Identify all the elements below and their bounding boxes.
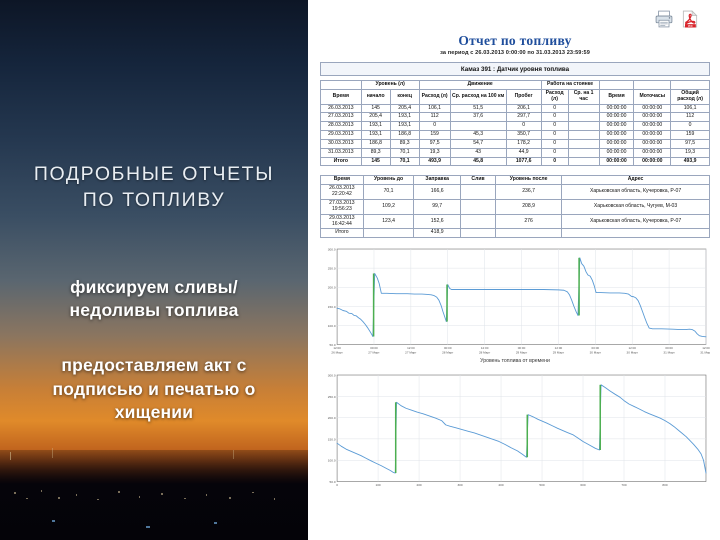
table-cell: 45,3: [450, 131, 506, 140]
svg-text:100: 100: [375, 483, 380, 487]
svg-text:29 Март: 29 Март: [553, 351, 565, 355]
movement-column-header-9: Моточасы: [634, 89, 671, 104]
table-cell: [568, 157, 599, 166]
promo-title: ПОДРОБНЫЕ ОТЧЕТЫ ПО ТОПЛИВУ: [34, 162, 274, 214]
table-cell: [568, 113, 599, 122]
svg-text:500: 500: [539, 483, 544, 487]
table-cell: 00:00:00: [634, 113, 671, 122]
svg-text:100.0: 100.0: [328, 458, 336, 462]
table-cell: 0: [541, 113, 568, 122]
table-cell: 109,2: [363, 199, 414, 214]
svg-text:100.0: 100.0: [328, 324, 336, 328]
movement-table: Уровень (л)ДвижениеРабота на стоянке Вре…: [320, 80, 710, 166]
table-cell: 00:00:00: [634, 139, 671, 148]
table-cell: 0: [541, 104, 568, 113]
report-period: за период с 26.03.2013 0:00:00 по 31.03.…: [320, 50, 710, 56]
table-cell: 00:00:00: [599, 139, 634, 148]
table-cell: 97,5: [671, 139, 710, 148]
table-cell: 89,3: [390, 139, 419, 148]
movement-group-header-2: Движение: [419, 81, 541, 90]
svg-text:28 Март: 28 Март: [479, 351, 491, 355]
movement-table-wrap: Уровень (л)ДвижениеРабота на стоянке Вре…: [320, 80, 710, 166]
fuel-level-time-chart-svg: 50.0100.0150.0200.0250.0300.012:0026 Мар…: [320, 246, 710, 359]
table-cell: [461, 229, 496, 238]
fuel-report-panel: PDF Отчет по топливу за период с 26.03.2…: [308, 0, 720, 540]
table-cell: 0: [541, 139, 568, 148]
table-cell: 152,6: [414, 214, 461, 229]
table-cell: 205,4: [390, 104, 419, 113]
table-row: 30.03.2013186,889,397,554,7178,2000:00:0…: [321, 139, 710, 148]
refuel-column-header-5: Адрес: [562, 176, 710, 185]
table-cell: Харьковская область, Кучеровка, Р-07: [562, 185, 710, 200]
promo-benefit-2: предоставляем акт с подписью и печатью о…: [53, 354, 256, 424]
avito-watermark: Avito: [596, 500, 712, 534]
table-row: 27.03.201319:56:23109,299,7208,9Харьковс…: [321, 199, 710, 214]
table-row: 27.03.2013205,4193,111237,6297,7000:00:0…: [321, 113, 710, 122]
svg-text:12:00: 12:00: [407, 346, 415, 350]
table-cell: 70,1: [363, 185, 414, 200]
table-cell: Харьковская область, Чугуев, М-03: [562, 199, 710, 214]
table-cell: 19,3: [419, 148, 450, 157]
svg-text:31 Март: 31 Март: [663, 351, 675, 355]
promo-title-line-1: ПОДРОБНЫЕ ОТЧЕТЫ: [34, 162, 274, 188]
movement-column-header-4: Ср. расход на 100 км: [450, 89, 506, 104]
svg-text:12:00: 12:00: [333, 346, 341, 350]
svg-text:250.0: 250.0: [328, 267, 336, 271]
table-cell: Харьковская область, Кучеровка, Р-07: [562, 214, 710, 229]
svg-text:26 Март: 26 Март: [331, 351, 343, 355]
device-header-bar: Камаз 391 : Датчик уровня топлива: [320, 62, 710, 76]
table-cell: [568, 139, 599, 148]
table-row: 29.03.201316:42:44123,4152,6276Харьковск…: [321, 214, 710, 229]
table-cell: 97,5: [419, 139, 450, 148]
table-cell: 186,8: [390, 131, 419, 140]
table-cell: [450, 122, 506, 131]
table-cell: [568, 131, 599, 140]
table-cell: 0: [541, 122, 568, 131]
table-cell: 193,1: [361, 131, 390, 140]
refuel-column-header-0: Время: [321, 176, 364, 185]
table-row: 29.03.2013193,1186,815945,3350,7000:00:0…: [321, 131, 710, 140]
table-cell: [363, 229, 414, 238]
table-cell: 29.03.201316:42:44: [321, 214, 364, 229]
svg-text:50.0: 50.0: [330, 480, 336, 484]
table-cell: 27.03.2013: [321, 113, 362, 122]
table-cell: 145: [361, 104, 390, 113]
svg-text:12:00: 12:00: [555, 346, 563, 350]
fuel-level-mileage-chart: 50.0100.0150.0200.0250.0300.001002003004…: [320, 372, 710, 491]
table-cell: 30.03.2013: [321, 139, 362, 148]
table-cell: 99,7: [414, 199, 461, 214]
fuel-level-mileage-chart-svg: 50.0100.0150.0200.0250.0300.001002003004…: [320, 372, 710, 491]
svg-text:00:00: 00:00: [665, 346, 673, 350]
pdf-icon-label: PDF: [688, 24, 694, 28]
svg-text:00:00: 00:00: [592, 346, 600, 350]
table-cell: 0: [671, 122, 710, 131]
table-cell: 89,3: [361, 148, 390, 157]
movement-column-header-3: Расход (л): [419, 89, 450, 104]
svg-text:27 Март: 27 Март: [405, 351, 417, 355]
movement-group-header-6: [671, 81, 710, 90]
svg-text:150.0: 150.0: [328, 437, 336, 441]
movement-table-group-header-row: Уровень (л)ДвижениеРабота на стоянке: [321, 81, 710, 90]
table-cell: 00:00:00: [634, 131, 671, 140]
table-cell: 29.03.2013: [321, 131, 362, 140]
svg-text:200.0: 200.0: [328, 286, 336, 290]
table-cell: [461, 185, 496, 200]
movement-group-header-3: Работа на стоянке: [541, 81, 599, 90]
table-cell: 00:00:00: [599, 104, 634, 113]
table-cell: 178,2: [506, 139, 541, 148]
table-cell: 0: [506, 122, 541, 131]
svg-text:30 Март: 30 Март: [627, 351, 639, 355]
movement-group-header-1: Уровень (л): [361, 81, 419, 90]
table-row: 26.03.2013145205,4106,151,5206,1000:00:0…: [321, 104, 710, 113]
table-cell: [568, 122, 599, 131]
table-cell: 112: [419, 113, 450, 122]
table-cell: Итого: [321, 229, 364, 238]
refuel-table-header-row: ВремяУровень доЗаправкаСливУровень после…: [321, 176, 710, 185]
promo-benefit-2-line-1: предоставляем акт с: [53, 354, 256, 377]
refuel-column-header-1: Уровень до: [363, 176, 414, 185]
table-row: 28.03.2013193,1193,100000:00:0000:00:000: [321, 122, 710, 131]
svg-text:00:00: 00:00: [444, 346, 452, 350]
movement-column-header-1: начало: [361, 89, 390, 104]
svg-text:00:00: 00:00: [370, 346, 378, 350]
table-cell: 418,9: [414, 229, 461, 238]
table-cell: [461, 214, 496, 229]
refuel-column-header-2: Заправка: [414, 176, 461, 185]
svg-text:12:00: 12:00: [702, 346, 710, 350]
promo-panel: ПОДРОБНЫЕ ОТЧЕТЫ ПО ТОПЛИВУ фиксируем сл…: [0, 0, 308, 540]
svg-text:300.0: 300.0: [328, 248, 336, 252]
table-cell: 26.03.2013: [321, 104, 362, 113]
svg-text:30 Март: 30 Март: [590, 351, 602, 355]
promo-benefit-1-line-1: фиксируем сливы/: [69, 276, 238, 299]
refuel-table: ВремяУровень доЗаправкаСливУровень после…: [320, 175, 710, 238]
table-cell: Итого: [321, 157, 362, 166]
table-cell: 106,1: [419, 104, 450, 113]
movement-group-header-4: [599, 81, 634, 90]
movement-column-header-6: Расход (л): [541, 89, 568, 104]
table-cell: 0: [541, 157, 568, 166]
table-cell: 27.03.201319:56:23: [321, 199, 364, 214]
refuel-column-header-4: Уровень после: [496, 176, 562, 185]
svg-text:400: 400: [498, 483, 503, 487]
table-cell: 00:00:00: [599, 122, 634, 131]
refuel-total-row: Итого418,9: [321, 229, 710, 238]
table-cell: 206,1: [506, 104, 541, 113]
table-cell: 00:00:00: [599, 113, 634, 122]
table-cell: 70,1: [390, 157, 419, 166]
promo-benefit-2-line-2: подписью и печатью о: [53, 378, 256, 401]
table-cell: 31.03.2013: [321, 148, 362, 157]
table-cell: 00:00:00: [634, 148, 671, 157]
movement-column-header-2: конец: [390, 89, 419, 104]
promo-benefit-1: фиксируем сливы/ недоливы топлива: [69, 276, 238, 323]
table-cell: 00:00:00: [634, 104, 671, 113]
table-cell: 106,1: [671, 104, 710, 113]
refuel-table-body: 26.03.201322:20:4270,1166,6236,7Харьковс…: [321, 185, 710, 238]
table-cell: [568, 104, 599, 113]
table-row: 31.03.201389,370,119,34344,9000:00:0000:…: [321, 148, 710, 157]
svg-text:12:00: 12:00: [481, 346, 489, 350]
svg-text:800: 800: [662, 483, 667, 487]
movement-column-header-8: Время: [599, 89, 634, 104]
table-cell: 37,6: [450, 113, 506, 122]
pdf-export-icon[interactable]: PDF: [680, 9, 700, 29]
table-cell: 236,7: [496, 185, 562, 200]
table-cell: [461, 199, 496, 214]
table-cell: 43: [450, 148, 506, 157]
table-cell: 159: [419, 131, 450, 140]
svg-text:29 Март: 29 Март: [516, 351, 528, 355]
movement-total-row: Итого14570,1493,945,81077,6000:00:0000:0…: [321, 157, 710, 166]
svg-text:200: 200: [416, 483, 421, 487]
table-cell: [562, 229, 710, 238]
table-cell: 276: [496, 214, 562, 229]
table-cell: 44,9: [506, 148, 541, 157]
avito-watermark-text: Avito: [636, 510, 687, 533]
fuel-level-time-chart-caption: Уровень топлива от времени: [320, 358, 710, 364]
table-cell: 350,7: [506, 131, 541, 140]
table-cell: 54,7: [450, 139, 506, 148]
report-title: Отчет по топливу: [320, 33, 710, 49]
table-cell: 193,1: [390, 122, 419, 131]
movement-column-header-5: Пробег: [506, 89, 541, 104]
table-cell: 26.03.201322:20:42: [321, 185, 364, 200]
movement-group-header-0: [321, 81, 362, 90]
svg-text:250.0: 250.0: [328, 395, 336, 399]
table-cell: 186,8: [361, 139, 390, 148]
table-cell: 112: [671, 113, 710, 122]
table-cell: 45,8: [450, 157, 506, 166]
svg-text:31 Март: 31 Март: [700, 351, 710, 355]
movement-column-header-0: Время: [321, 89, 362, 104]
table-cell: 70,1: [390, 148, 419, 157]
table-cell: 205,4: [361, 113, 390, 122]
table-cell: 297,7: [506, 113, 541, 122]
svg-text:12:00: 12:00: [628, 346, 636, 350]
table-cell: 208,9: [496, 199, 562, 214]
svg-text:300: 300: [457, 483, 462, 487]
svg-text:28 Март: 28 Март: [442, 351, 454, 355]
table-cell: 123,4: [363, 214, 414, 229]
movement-group-header-5: [634, 81, 671, 90]
table-cell: 1077,6: [506, 157, 541, 166]
table-cell: 0: [541, 148, 568, 157]
table-cell: 51,5: [450, 104, 506, 113]
svg-text:150.0: 150.0: [328, 305, 336, 309]
table-cell: 159: [671, 131, 710, 140]
table-row: 26.03.201322:20:4270,1166,6236,7Харьковс…: [321, 185, 710, 200]
table-cell: 28.03.2013: [321, 122, 362, 131]
promo-title-line-2: ПО ТОПЛИВУ: [34, 188, 274, 214]
refuel-column-header-3: Слив: [461, 176, 496, 185]
table-cell: 166,6: [414, 185, 461, 200]
movement-table-body: 26.03.2013145205,4106,151,5206,1000:00:0…: [321, 104, 710, 166]
report-toolbar: PDF: [320, 6, 710, 32]
table-cell: 00:00:00: [599, 131, 634, 140]
movement-column-header-10: Общий расход (л): [671, 89, 710, 104]
table-cell: 145: [361, 157, 390, 166]
table-cell: 00:00:00: [599, 157, 634, 166]
refuel-table-wrap: ВремяУровень доЗаправкаСливУровень после…: [320, 175, 710, 238]
screenshot-root: ПОДРОБНЫЕ ОТЧЕТЫ ПО ТОПЛИВУ фиксируем сл…: [0, 0, 720, 540]
svg-text:00:00: 00:00: [518, 346, 526, 350]
svg-text:700: 700: [621, 483, 626, 487]
table-cell: [568, 148, 599, 157]
table-cell: 19,3: [671, 148, 710, 157]
promo-benefit-2-line-3: хищении: [53, 401, 256, 424]
table-cell: 493,9: [671, 157, 710, 166]
table-cell: [496, 229, 562, 238]
table-cell: 00:00:00: [599, 148, 634, 157]
svg-text:27 Март: 27 Март: [368, 351, 380, 355]
table-cell: 00:00:00: [634, 122, 671, 131]
table-cell: 193,1: [390, 113, 419, 122]
svg-text:600: 600: [580, 483, 585, 487]
movement-column-header-7: Ср. на 1 час: [568, 89, 599, 104]
svg-text:300.0: 300.0: [328, 373, 336, 377]
svg-text:0: 0: [336, 483, 338, 487]
table-cell: 00:00:00: [634, 157, 671, 166]
table-cell: 0: [419, 122, 450, 131]
table-cell: 193,1: [361, 122, 390, 131]
table-cell: 0: [541, 131, 568, 140]
printer-icon[interactable]: [654, 9, 674, 29]
table-cell: 493,9: [419, 157, 450, 166]
svg-text:200.0: 200.0: [328, 416, 336, 420]
fuel-level-time-chart: 50.0100.0150.0200.0250.0300.012:0026 Мар…: [320, 246, 710, 364]
movement-table-header-row: ВремяначалоконецРасход (л)Ср. расход на …: [321, 89, 710, 104]
promo-benefit-1-line-2: недоливы топлива: [69, 299, 238, 322]
